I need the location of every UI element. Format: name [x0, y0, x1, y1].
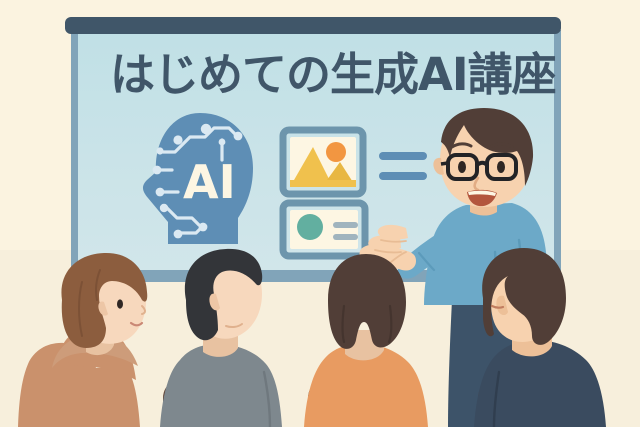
paper-grain-overlay — [0, 0, 640, 427]
scene-svg: はじめての生成AI講座 — [0, 0, 640, 427]
illustration-canvas: はじめての生成AI講座 — [0, 0, 640, 427]
